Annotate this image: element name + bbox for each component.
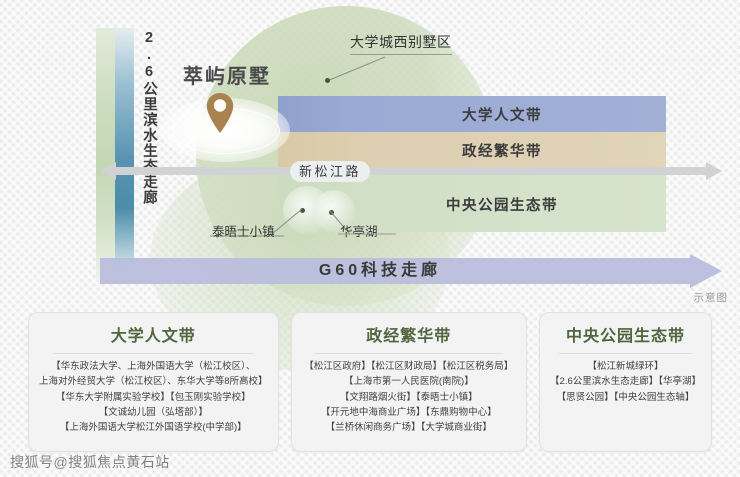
card-line: 【2.6公里滨水生态走廊】【华亭湖】: [550, 376, 701, 389]
card-line: 【文翔路烟火街】【泰晤士小镇】: [340, 392, 478, 405]
card-university-culture: 大学人文带 【华东政法大学、上海外国语大学（松江校区）、 上海对外经贸大学（松江…: [28, 312, 279, 452]
callout-villa-zone: 大学城西别墅区: [350, 32, 452, 55]
card-line: 【开元地中海商业广场】【东鼎购物中心】: [321, 407, 497, 420]
location-diagram: 2.6公里滨水生态走廊 大学人文带 政经繁华带 中央公园生态带 新松江路 G60…: [0, 0, 740, 308]
corridor-green-lane: [96, 28, 115, 278]
card-divider: [314, 353, 503, 354]
poi-dot-villa-zone: [325, 78, 330, 83]
card-line: 【华东大学附属实验学校】【包玉刚实验学校】: [56, 392, 251, 405]
road-xinsongjiang-arrow: [100, 160, 722, 182]
band-government-economy-label: 政经繁华带: [338, 140, 666, 161]
road-g60-label: G60科技走廊: [100, 254, 660, 288]
road-xinsongjiang-label: 新松江路: [290, 161, 370, 182]
band-university-culture: 大学人文带: [278, 96, 666, 132]
card-line: 上海对外经贸大学（松江校区）、东华大学等8所高校】: [39, 376, 268, 389]
infographic-page: 2.6公里滨水生态走廊 大学人文带 政经繁华带 中央公园生态带 新松江路 G60…: [0, 0, 740, 477]
watermark: 搜狐号@搜狐焦点黄石站: [10, 452, 170, 472]
info-cards: 大学人文带 【华东政法大学、上海外国语大学（松江校区）、 上海对外经贸大学（松江…: [0, 312, 740, 452]
card-divider: [53, 353, 254, 354]
location-pin-icon: [205, 92, 235, 134]
waterfront-corridor-strip: [96, 28, 134, 278]
card-central-park-eco-title: 中央公园生态带: [566, 322, 685, 353]
card-line: 【上海市第一人民医院(南院)】: [344, 376, 474, 389]
card-government-economy: 政经繁华带 【松江区政府】【松江区财政局】【松江区税务局】 【上海市第一人民医院…: [291, 312, 527, 452]
card-university-culture-lines: 【华东政法大学、上海外国语大学（松江校区）、 上海对外经贸大学（松江校区）、东华…: [39, 361, 268, 435]
callout-thames-town: 泰晤士小镇: [212, 221, 275, 240]
card-line: 【兰桥休闲商务广场】【大学城商业街】: [326, 422, 492, 435]
card-line: 【松江区政府】【松江区财政局】【松江区税务局】: [304, 361, 513, 374]
card-university-culture-title: 大学人文带: [111, 322, 196, 353]
card-divider: [559, 353, 692, 354]
project-name-label: 萃屿原墅: [166, 60, 288, 89]
card-central-park-eco-lines: 【松江新城绿环】 【2.6公里滨水生态走廊】【华亭湖】 【思贤公园】【中央公园生…: [550, 361, 701, 404]
card-government-economy-lines: 【松江区政府】【松江区财政局】【松江区税务局】 【上海市第一人民医院(南院)】 …: [304, 361, 513, 435]
card-line: 【上海外国语大学松江外国语学校(中学部)】: [60, 422, 247, 435]
card-line: 【松江新城绿环】: [588, 361, 664, 374]
leader-line-villa-zone: [325, 55, 445, 85]
card-line: 【文诚幼儿园（弘塔部）】: [99, 407, 208, 420]
diagram-disclaimer: 示意图: [694, 290, 729, 305]
leader-underline-huating: [338, 233, 398, 237]
band-university-culture-label: 大学人文带: [338, 104, 666, 125]
card-government-economy-title: 政经繁华带: [366, 322, 451, 353]
band-central-park-eco-label: 中央公园生态带: [338, 194, 666, 215]
card-line: 【华东政法大学、上海外国语大学（松江校区）、: [51, 361, 255, 374]
watermark-text: 搜狐号@搜狐焦点黄石站: [10, 452, 170, 472]
callout-huating-lake: 华亭湖: [340, 221, 378, 240]
card-central-park-eco: 中央公园生态带 【松江新城绿环】 【2.6公里滨水生态走廊】【华亭湖】 【思贤公…: [539, 312, 712, 452]
card-line: 【思贤公园】【中央公园生态轴】: [557, 392, 695, 405]
